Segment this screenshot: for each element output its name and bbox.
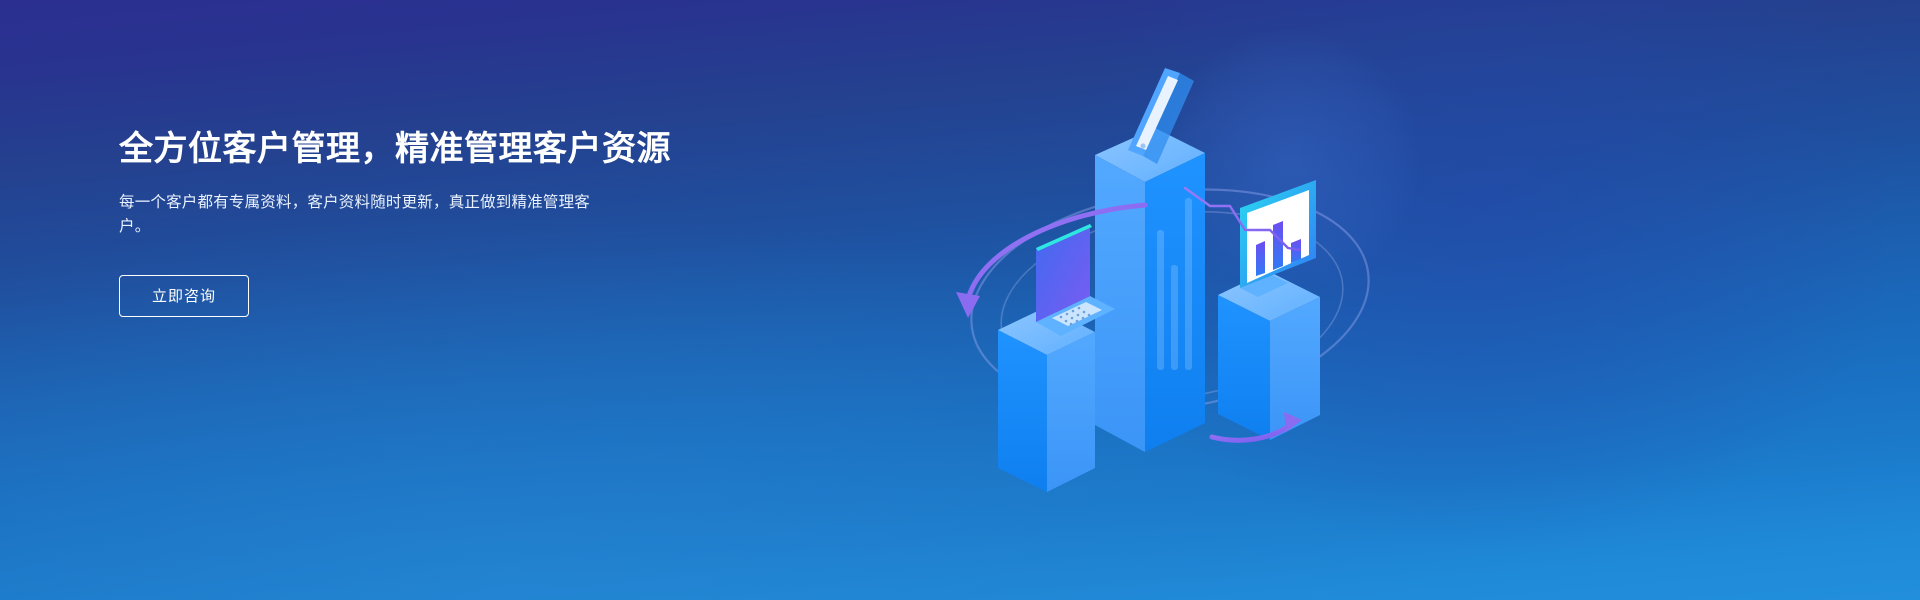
- hero-subtitle: 每一个客户都有专属资料，客户资料随时更新，真正做到精准管理客户。: [119, 191, 599, 239]
- hero-illustration: [940, 0, 1400, 600]
- right-pillar: [1218, 271, 1320, 440]
- hero-copy-block: 全方位客户管理，精准管理客户资源 每一个客户都有专属资料，客户资料随时更新，真正…: [119, 128, 759, 317]
- consult-now-button[interactable]: 立即咨询: [119, 275, 249, 317]
- center-pillar: [1095, 128, 1205, 452]
- hero-banner: 全方位客户管理，精准管理客户资源 每一个客户都有专属资料，客户资料随时更新，真正…: [0, 0, 1920, 600]
- page-title: 全方位客户管理，精准管理客户资源: [119, 128, 759, 171]
- left-pillar: [998, 307, 1095, 492]
